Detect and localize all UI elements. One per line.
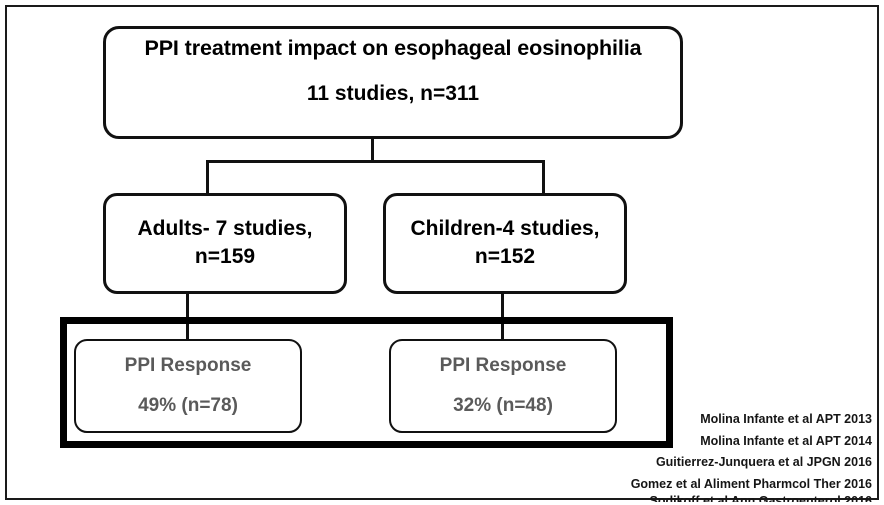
node-root: PPI treatment impact on esophageal eosin… — [103, 26, 683, 139]
children-line-2: n=152 — [378, 243, 632, 271]
citation-item: Gomez et al Aliment Pharmcol Ther 2016 — [532, 474, 872, 496]
node-ppi-response-adults: PPI Response 49% (n=78) — [74, 339, 302, 433]
children-response-label: PPI Response — [391, 355, 615, 377]
root-title: PPI treatment impact on esophageal eosin… — [92, 36, 694, 61]
flowchart-canvas: PPI treatment impact on esophageal eosin… — [0, 0, 884, 505]
adults-line-2: n=159 — [98, 243, 352, 271]
adults-response-label: PPI Response — [76, 355, 300, 377]
citation-item: Molina Infante et al APT 2014 — [532, 431, 872, 453]
citation-item: Molina Infante et al APT 2013 — [532, 409, 872, 431]
connector-to-adults — [206, 160, 209, 195]
root-subtitle: 11 studies, n=311 — [106, 82, 680, 107]
citation-item: Sodikoff et al Ann Gastroenterol 2016 — [532, 495, 872, 502]
adults-response-value: 49% (n=78) — [76, 395, 300, 417]
children-line-1: Children-4 studies, — [378, 215, 632, 243]
connector-root-stem — [371, 139, 374, 162]
connector-to-children — [542, 160, 545, 195]
node-children: Children-4 studies, n=152 — [383, 193, 627, 294]
connector-branch-bus — [206, 160, 545, 163]
citation-list: Molina Infante et al APT 2013 Molina Inf… — [532, 409, 872, 502]
citation-item: Guitierrez-Junquera et al JPGN 2016 — [532, 452, 872, 474]
adults-line-1: Adults- 7 studies, — [98, 215, 352, 243]
node-adults: Adults- 7 studies, n=159 — [103, 193, 347, 294]
